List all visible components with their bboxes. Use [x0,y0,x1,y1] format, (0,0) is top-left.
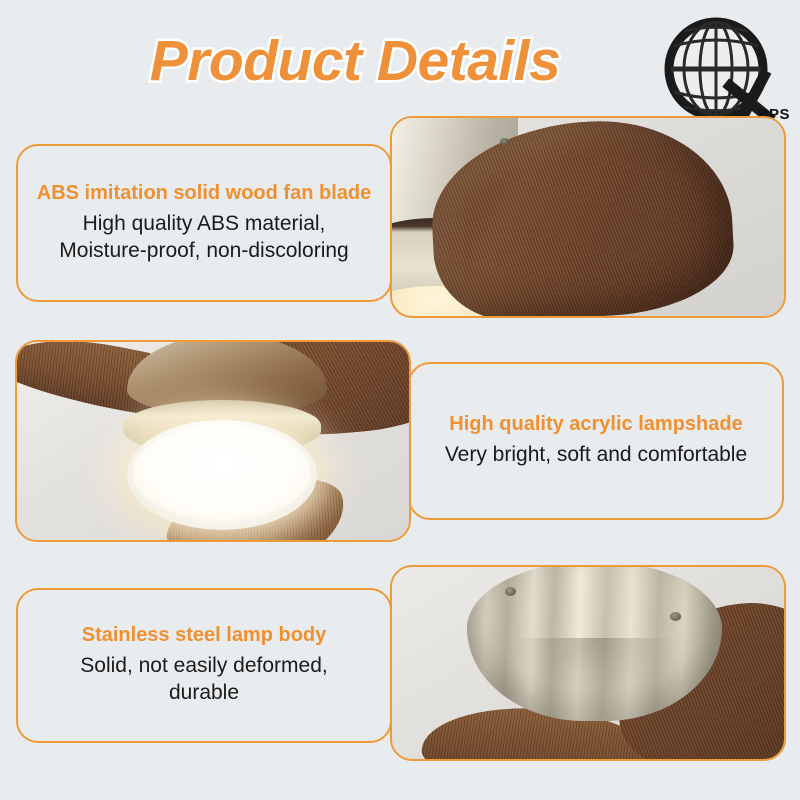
product-photo-lamp-body [390,565,786,761]
feature-description-line1: High quality ABS material, [59,211,348,238]
feature-card-abs-blade: ABS imitation solid wood fan blade High … [16,144,392,302]
feature-heading: ABS imitation solid wood fan blade [37,182,371,205]
product-photo-fan-blade [390,116,786,318]
feature-description-line1: Very bright, soft and comfortable [445,442,747,469]
product-details-page: Product Details BPS CERTIFIED Product Sa… [0,0,800,800]
screw-icon-left [505,587,516,596]
feature-description-line1: Solid, not easily deformed, [80,653,327,680]
screw-icon-right [670,612,681,621]
photo-scene [392,118,784,316]
feature-heading: High quality acrylic lampshade [449,413,742,436]
feature-description: Solid, not easily deformed, durable [80,653,327,707]
feature-heading: Stainless steel lamp body [82,624,327,647]
feature-description: High quality ABS material, Moisture-proo… [59,211,348,265]
feature-description: Very bright, soft and comfortable [445,442,747,469]
feature-card-lamp-body: Stainless steel lamp body Solid, not eas… [16,588,392,743]
product-photo-lampshade [15,340,411,542]
screw-icon [500,138,509,145]
feature-description-line2: Moisture-proof, non-discoloring [59,238,348,265]
feature-description-line2: durable [80,680,327,707]
feature-card-lampshade: High quality acrylic lampshade Very brig… [408,362,784,520]
acrylic-lampshade [127,420,317,530]
photo-scene [17,342,409,540]
photo-scene [392,567,784,759]
